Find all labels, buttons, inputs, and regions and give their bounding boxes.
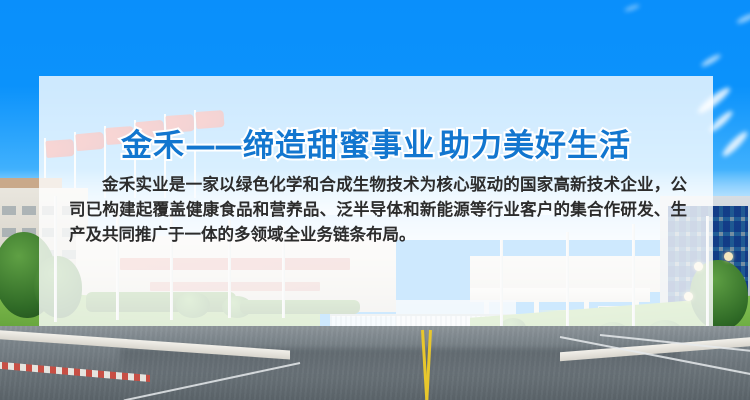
- headline-brand: 金禾: [121, 128, 185, 164]
- headline: 金禾——缔造甜蜜事业助力美好生活: [39, 120, 713, 165]
- headline-slogan-1: 缔造甜蜜事业: [243, 128, 435, 164]
- banner-content: 金禾——缔造甜蜜事业助力美好生活 金禾实业是一家以绿色化学和合成生物技术为核心驱…: [39, 76, 713, 326]
- headline-dash: ——: [185, 128, 243, 164]
- headline-slogan-2: 助力美好生活: [439, 128, 631, 164]
- promo-banner: 金禾——缔造甜蜜事业助力美好生活 金禾实业是一家以绿色化学和合成生物技术为核心驱…: [0, 0, 750, 400]
- body-paragraph: 金禾实业是一家以绿色化学和合成生物技术为核心驱动的国家高新技术企业，公司已构建起…: [69, 172, 687, 247]
- street-lamp: [724, 252, 733, 261]
